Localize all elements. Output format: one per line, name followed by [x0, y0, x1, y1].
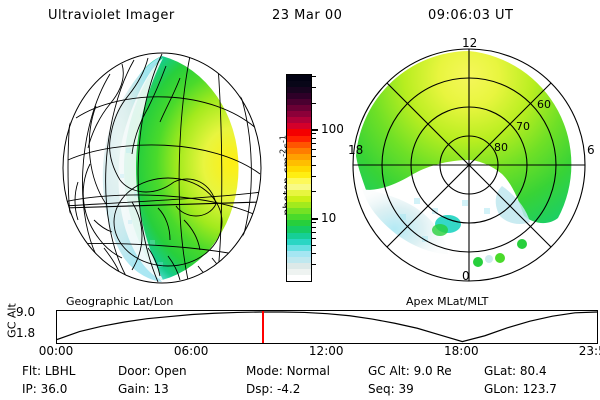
- apex-polar-svg: [352, 48, 586, 282]
- geographic-image-panel[interactable]: [62, 44, 272, 292]
- orbit-altitude-plot[interactable]: [56, 310, 598, 344]
- globe-outer-arc-left: [68, 58, 84, 280]
- colorbar-minor-tick: [311, 245, 316, 246]
- orbit-xtick-2359: 23:59: [579, 344, 600, 358]
- colorbar-minor-tick: [311, 133, 316, 134]
- status-value: 36.0: [41, 382, 68, 396]
- status-key: GLon:: [484, 382, 523, 396]
- mlt-spokes: [353, 49, 585, 281]
- apex-polar-panel[interactable]: 12 18 6 0 60 70 80: [344, 40, 594, 292]
- orbit-x-axis-labels: 00:0006:0012:0018:0023:59: [0, 344, 600, 360]
- status-value: -4.2: [277, 382, 300, 396]
- colorbar-minor-tick: [311, 232, 316, 233]
- status-bar: Flt: LBHLDoor: OpenMode: NormalGC Alt: 9…: [0, 362, 600, 400]
- orbit-xtick-0000: 00:00: [39, 344, 74, 358]
- colorbar-minor-tick: [311, 138, 316, 139]
- status-item-dsp: Dsp: -4.2: [246, 382, 300, 396]
- colorbar-minor-tick: [311, 149, 316, 150]
- status-value: 39: [398, 382, 413, 396]
- status-item-glat: GLat: 80.4: [484, 364, 547, 378]
- orbit-time-marker[interactable]: [262, 311, 264, 343]
- colorbar-minor-tick: [311, 103, 316, 104]
- colorbar-minor-tick: [311, 238, 316, 239]
- colorbar-minor-tick: [311, 87, 316, 88]
- colorbar-tick-label-10: 10: [321, 211, 336, 225]
- status-key: Mode:: [246, 364, 287, 378]
- status-value: LBHL: [45, 364, 76, 378]
- observation-time: 09:06:03 UT: [428, 8, 513, 23]
- status-item-door: Door: Open: [118, 364, 187, 378]
- apex-panel-title: Apex MLat/MLT: [406, 295, 488, 308]
- colorbar-band-0: [287, 275, 311, 281]
- status-key: Seq:: [368, 382, 398, 396]
- status-value: 80.4: [520, 364, 547, 378]
- status-key: GLat:: [484, 364, 520, 378]
- status-key: GC Alt:: [368, 364, 414, 378]
- orbit-altitude-curve: [57, 311, 597, 343]
- orbit-xtick-1200: 12:00: [309, 344, 344, 358]
- colorbar-minor-tick: [311, 191, 316, 192]
- mlt-label-18: 18: [348, 143, 363, 157]
- status-value: Open: [155, 364, 187, 378]
- status-value: Normal: [287, 364, 330, 378]
- status-item-gain: Gain: 13: [118, 382, 169, 396]
- colorbar-minor-tick: [311, 156, 316, 157]
- status-value: 123.7: [523, 382, 557, 396]
- status-item-glon: GLon: 123.7: [484, 382, 557, 396]
- colorbar-minor-tick: [311, 227, 316, 228]
- geographic-globe-svg: [62, 52, 262, 284]
- colorbar-major-tick-10: [311, 218, 318, 220]
- colorbar-tick-label-100: 100: [321, 122, 344, 136]
- status-value: 9.0 Re: [414, 364, 452, 378]
- status-item-ip: IP: 36.0: [22, 382, 67, 396]
- status-key: Gain:: [118, 382, 153, 396]
- colorbar-gradient: [286, 74, 312, 282]
- status-item-mode: Mode: Normal: [246, 364, 330, 378]
- colorbar-minor-tick: [311, 264, 316, 265]
- geographic-panel-title: Geographic Lat/Lon: [66, 295, 173, 308]
- colorbar-minor-tick: [311, 176, 316, 177]
- status-item-flt: Flt: LBHL: [22, 364, 75, 378]
- observation-date: 23 Mar 00: [272, 8, 342, 23]
- colorbar-major-tick-100: [311, 129, 318, 131]
- mlat-label-70: 70: [516, 120, 530, 133]
- status-key: Flt:: [22, 364, 45, 378]
- header-bar: Ultraviolet Imager 23 Mar 00 09:06:03 UT: [0, 0, 600, 34]
- orbit-xtick-0600: 06:00: [174, 344, 209, 358]
- status-key: Door:: [118, 364, 155, 378]
- mlt-label-0: 0: [462, 269, 470, 283]
- mlt-label-12: 12: [462, 36, 477, 50]
- colorbar-minor-tick: [311, 222, 316, 223]
- status-item-gcalt: GC Alt: 9.0 Re: [368, 364, 452, 378]
- colorbar-minor-tick: [311, 165, 316, 166]
- instrument-title: Ultraviolet Imager: [48, 8, 175, 23]
- mlt-label-6: 6: [587, 143, 595, 157]
- geographic-globe[interactable]: [62, 52, 262, 284]
- status-item-seq: Seq: 39: [368, 382, 414, 396]
- colorbar-minor-tick: [311, 143, 316, 144]
- aurora-emission-layer: [94, 52, 262, 284]
- orbit-xtick-1800: 18:00: [444, 344, 479, 358]
- orbit-timeline-panel[interactable]: GC Alt 9.0 1.8 Geographic Lat/Lon Apex M…: [0, 296, 600, 358]
- mlat-label-60: 60: [537, 98, 551, 111]
- colorbar-minor-tick: [311, 253, 316, 254]
- status-value: 13: [153, 382, 168, 396]
- status-key: IP:: [22, 382, 41, 396]
- orbit-ytick-min: 1.8: [16, 326, 35, 340]
- status-key: Dsp:: [246, 382, 277, 396]
- mlat-label-80: 80: [494, 141, 508, 154]
- orbit-ytick-max: 9.0: [16, 305, 35, 319]
- colorbar-minor-tick: [311, 76, 316, 77]
